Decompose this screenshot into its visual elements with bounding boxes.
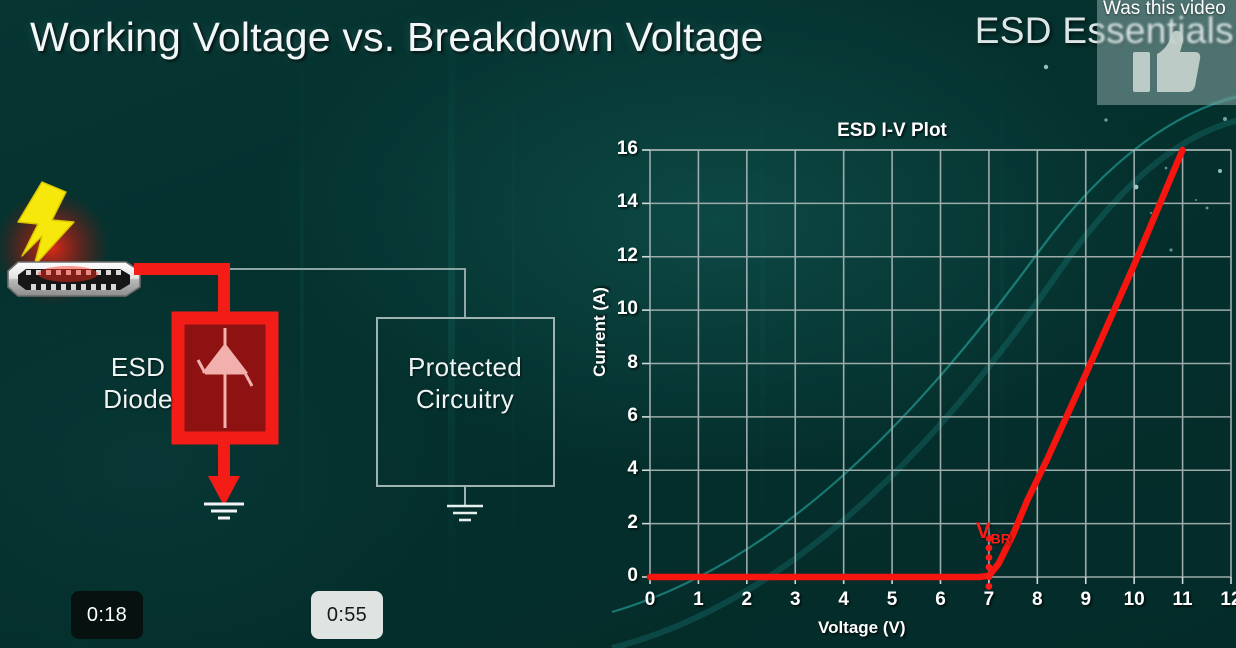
x-tick-8: 8 (1022, 589, 1052, 611)
slide-title: Working Voltage vs. Breakdown Voltage (30, 14, 764, 61)
x-tick-12: 12 (1216, 589, 1236, 611)
hdmi-connector (8, 262, 140, 296)
protected-circuitry-block (377, 318, 554, 520)
x-tick-9: 9 (1071, 589, 1101, 611)
x-tick-10: 10 (1119, 589, 1149, 611)
chart-title: ESD I-V Plot (558, 120, 1226, 142)
y-tick-10: 10 (604, 298, 638, 320)
chart-xlabel: Voltage (V) (818, 618, 906, 638)
protected-label-line1: Protected (372, 352, 558, 384)
x-tick-6: 6 (926, 589, 956, 611)
timestamp-chip-total[interactable]: 0:55 (311, 591, 383, 639)
esd-diode-label: ESD Diode (78, 352, 198, 415)
protected-label-line2: Circuitry (372, 384, 558, 416)
ground-icon-protected (447, 506, 483, 520)
y-tick-2: 2 (604, 512, 638, 534)
timestamp-chip-current[interactable]: 0:18 (71, 591, 143, 639)
y-tick-8: 8 (604, 352, 638, 374)
esd-diode-label-line2: Diode (78, 384, 198, 416)
x-tick-3: 3 (780, 589, 810, 611)
signal-wire (140, 269, 465, 318)
circuit-diagram: ESD Diode Protected Circuitry (0, 170, 600, 570)
ground-icon-esd (204, 504, 244, 518)
feedback-prompt: Was this video (1103, 0, 1236, 20)
x-tick-4: 4 (829, 589, 859, 611)
thumbs-up-icon[interactable] (1133, 30, 1201, 92)
plot-area (568, 110, 1236, 610)
x-tick-7: 7 (974, 589, 1004, 611)
y-tick-16: 16 (604, 138, 638, 160)
vbr-subscript: BR (991, 530, 1011, 546)
x-tick-0: 0 (635, 589, 665, 611)
chart-ylabel: Current (A) (590, 252, 610, 412)
y-tick-12: 12 (604, 245, 638, 267)
x-tick-11: 11 (1168, 589, 1198, 611)
y-tick-14: 14 (604, 191, 638, 213)
y-tick-0: 0 (604, 565, 638, 587)
esd-diode-label-line1: ESD (78, 352, 198, 384)
vbr-main: V (976, 518, 991, 543)
current-arrow (208, 476, 240, 506)
protected-circuitry-label: Protected Circuitry (372, 352, 558, 415)
breakdown-voltage-label: VBR (976, 518, 1011, 546)
y-tick-4: 4 (604, 458, 638, 480)
esd-current-path (140, 269, 224, 318)
x-tick-5: 5 (877, 589, 907, 611)
esd-iv-chart: ESD I-V Plot Current (A) Voltage (V) VBR… (568, 110, 1236, 648)
x-tick-2: 2 (732, 589, 762, 611)
x-tick-1: 1 (683, 589, 713, 611)
video-feedback-overlay[interactable]: Was this video (1097, 0, 1236, 105)
y-tick-6: 6 (604, 405, 638, 427)
